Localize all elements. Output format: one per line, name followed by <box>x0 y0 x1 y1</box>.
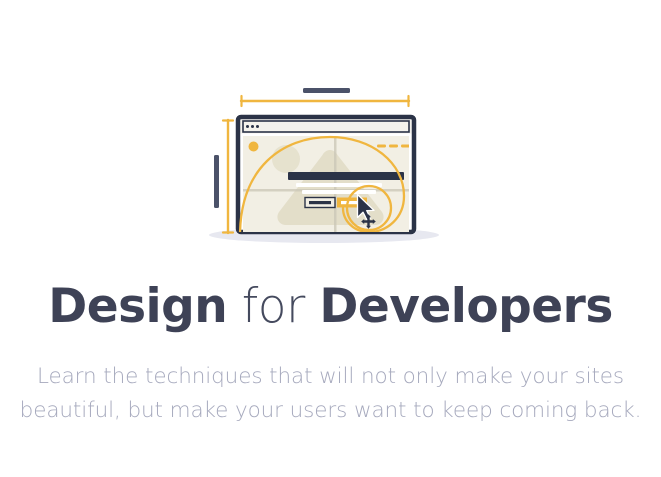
page-title-spacer-2 <box>305 279 319 334</box>
horizontal-ruler <box>241 96 409 106</box>
left-marker-bar <box>214 155 219 208</box>
browser-window-dots <box>246 125 259 128</box>
top-marker-bar <box>303 88 350 93</box>
logo-dot <box>249 142 259 152</box>
decorative-circle <box>272 145 300 173</box>
content-heading-bar <box>288 172 404 180</box>
page-title-part-three: Developers <box>319 279 612 334</box>
page-subtitle: Learn the techniques that will not only … <box>0 360 661 428</box>
nav-dashes <box>377 145 410 148</box>
page-title-part-two: for <box>242 279 305 334</box>
page-title-spacer-1 <box>227 279 241 334</box>
content-secondary-button[interactable] <box>305 198 335 208</box>
page-title: Design for Developers <box>0 278 661 336</box>
page-title-part-one: Design <box>48 279 227 334</box>
page-subtitle-line-1: Learn the techniques that will not only … <box>0 360 661 394</box>
page-subtitle-line-2: beautiful, but make your users want to k… <box>0 394 661 428</box>
vertical-ruler <box>223 120 233 233</box>
hero-illustration <box>0 0 661 262</box>
content-text-line <box>302 190 376 194</box>
page-root: Design for Developers Learn the techniqu… <box>0 0 661 477</box>
browser-window <box>238 117 414 236</box>
hero-text-block: Design for Developers Learn the techniqu… <box>0 278 661 428</box>
